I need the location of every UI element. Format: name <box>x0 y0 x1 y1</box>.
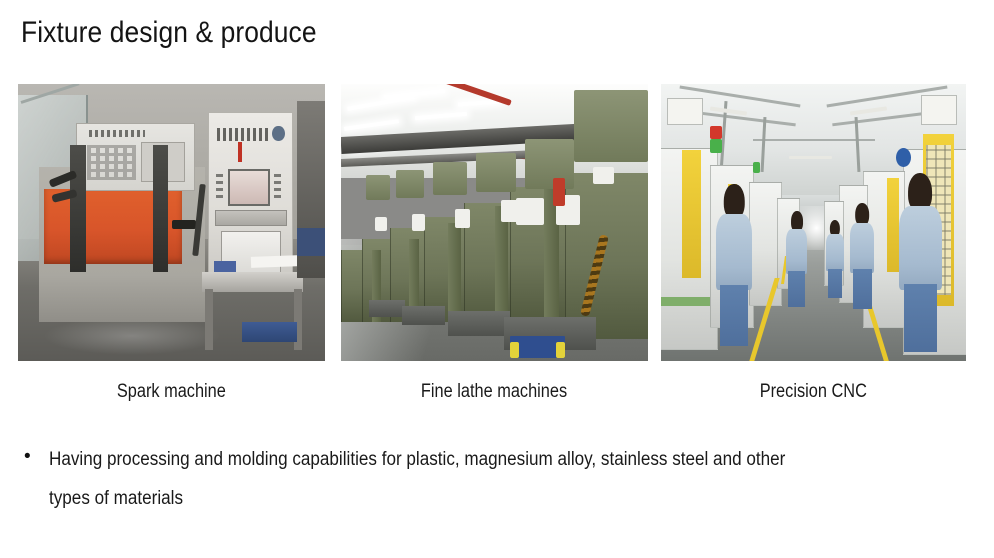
bullet-list: • Having processing and molding capabili… <box>22 440 952 518</box>
milling-head <box>396 170 424 198</box>
caption-fine-lathe-machines: Fine lathe machines <box>341 380 648 404</box>
milling-head <box>525 139 574 189</box>
machine-guard <box>593 167 614 184</box>
cabinet-buttons-left <box>216 170 223 198</box>
signal-tower-green-icon <box>710 139 722 153</box>
photo-spark-machine <box>18 84 325 361</box>
milling-head <box>476 153 516 192</box>
safety-sign-icon <box>896 148 911 167</box>
charmilles-red-mark <box>238 142 243 161</box>
signal-tower-red-icon <box>710 126 722 140</box>
ceiling-lamp <box>789 156 832 159</box>
machine-base-tray <box>369 300 406 317</box>
signal-tower-green-icon <box>753 162 761 173</box>
machine-column <box>495 206 509 322</box>
photo-fine-lathe-machines-scene <box>341 84 648 361</box>
worker-trousers <box>904 284 937 351</box>
machine-handwheel <box>412 214 426 231</box>
milling-head <box>574 90 648 162</box>
cabinet-keyboard-strip <box>215 210 287 226</box>
machine-door-frame-left <box>682 150 700 277</box>
table-paper <box>251 255 300 268</box>
list-item: • Having processing and molding capabili… <box>22 440 952 518</box>
worker-foreground-left <box>716 184 753 345</box>
photo-fine-lathe-machines <box>341 84 648 361</box>
control-keypad <box>87 145 136 180</box>
red-machine-part <box>553 178 565 206</box>
worker-midground-right <box>850 203 874 308</box>
caption-precision-cnc-text: Precision CNC <box>760 380 867 404</box>
photo-row <box>0 84 994 361</box>
worker-distant <box>826 220 844 298</box>
wall-sign-right <box>921 95 957 125</box>
milling-head <box>366 175 391 200</box>
cart-wheel-guard <box>510 342 519 359</box>
bullet-text-content: Having processing and molding capabiliti… <box>49 440 796 518</box>
cabinet-buttons-right <box>274 170 281 198</box>
panel-handle <box>172 220 197 229</box>
worker-foreground-right <box>899 173 942 350</box>
machine-guard <box>516 198 544 226</box>
machine-handwheel <box>455 209 470 228</box>
page-title: Fixture design & produce <box>21 14 317 52</box>
charmilles-brand-text <box>217 128 270 140</box>
worker-trousers <box>828 269 842 298</box>
photo-precision-cnc <box>661 84 966 361</box>
side-table <box>202 272 303 291</box>
milling-head <box>433 162 467 195</box>
caption-precision-cnc: Precision CNC <box>661 380 966 404</box>
photo-spark-machine-scene <box>18 84 325 361</box>
worker-trousers <box>788 271 805 307</box>
worker-shirt <box>716 214 753 290</box>
machine-handwheel <box>375 217 387 231</box>
charmilles-logo-icon <box>272 126 284 142</box>
cart-wheel-guard <box>556 342 565 359</box>
background-blue-panel <box>297 228 325 256</box>
machine-base-tray <box>448 311 509 336</box>
machine-door-frame-right-mid <box>887 178 899 272</box>
machine-base-tray <box>402 306 445 325</box>
side-table-leg-left <box>205 289 213 350</box>
caption-spark-machine: Spark machine <box>18 380 325 404</box>
control-panel-label <box>89 130 145 137</box>
caption-fine-lathe-machines-text: Fine lathe machines <box>421 380 567 404</box>
machine-column <box>448 223 460 323</box>
blue-item-on-table <box>214 261 235 272</box>
machine-green-trim <box>661 297 710 305</box>
floor-reflection <box>43 317 221 356</box>
wall-sign-left <box>667 98 703 125</box>
worker-trousers <box>720 285 749 346</box>
photo-precision-cnc-scene <box>661 84 966 361</box>
blue-storage-box <box>242 322 297 341</box>
bullet-text: Having processing and molding capabiliti… <box>49 440 879 518</box>
worker-shirt <box>826 234 844 270</box>
worker-midground-left <box>786 211 807 305</box>
worker-shirt <box>899 206 942 289</box>
machine-column-left <box>70 145 85 272</box>
machine-column-right <box>153 145 168 272</box>
worker-shirt <box>786 229 807 273</box>
cabinet-screen <box>228 169 270 206</box>
bullet-marker-icon: • <box>22 440 49 474</box>
slide-canvas: Fixture design & produce <box>0 0 994 558</box>
worker-shirt <box>850 223 874 272</box>
worker-trousers <box>853 269 872 309</box>
caption-spark-machine-text: Spark machine <box>117 380 226 404</box>
control-panel <box>76 123 195 191</box>
